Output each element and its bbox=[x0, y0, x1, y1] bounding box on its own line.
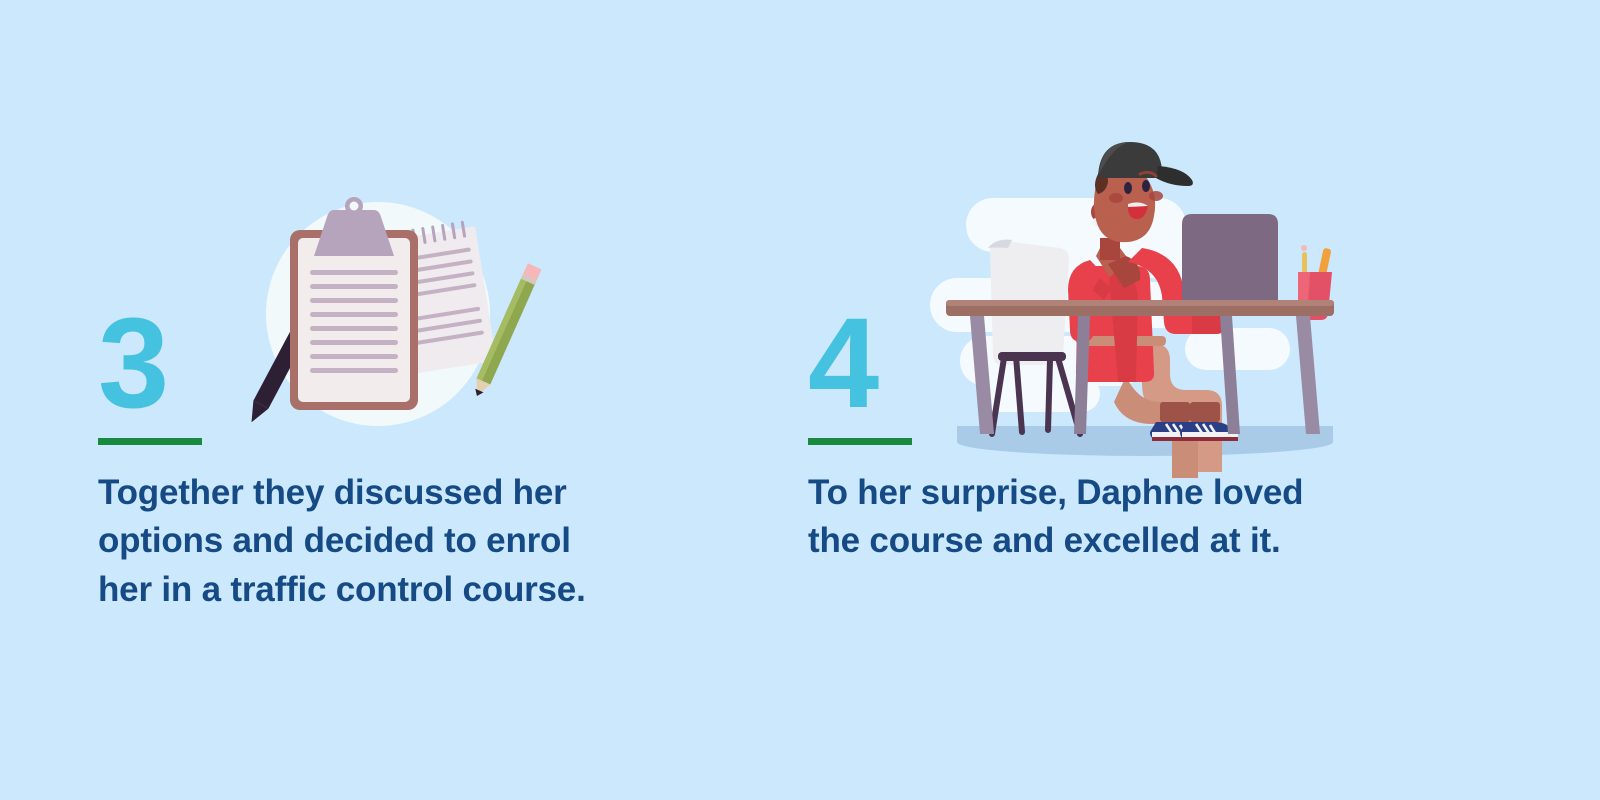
step-4-text: To her surprise, Daphne loved the course… bbox=[808, 469, 1303, 566]
step-4-number: 4 bbox=[808, 300, 1303, 428]
step-3-number: 3 bbox=[98, 300, 586, 428]
step-3-text: Together they discussed her options and … bbox=[98, 469, 586, 614]
step-3-rule bbox=[98, 438, 202, 445]
laptop bbox=[1170, 214, 1290, 312]
step-4-rule bbox=[808, 438, 912, 445]
infographic-canvas: 3 Together they discussed her options an… bbox=[0, 0, 1600, 800]
step-4-block: 4 To her surprise, Daphne loved the cour… bbox=[808, 300, 1303, 566]
step-3-block: 3 Together they discussed her options an… bbox=[98, 300, 586, 614]
